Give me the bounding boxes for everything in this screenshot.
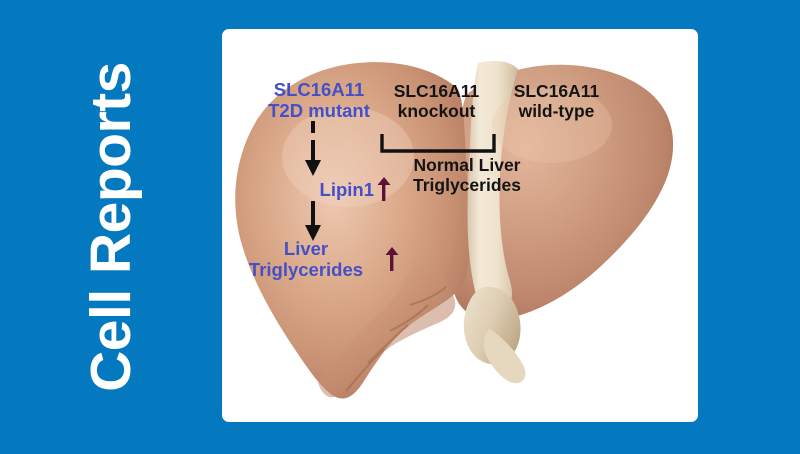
label-lipin1: Lipin1 [262,179,374,200]
increase-arrow-triglycerides-icon [385,247,399,271]
label-normal-triglycerides: Normal Liver Triglycerides [382,156,552,196]
label-liver-triglycerides: Liver Triglycerides [230,238,382,280]
arrow-mutant-to-lipin1-icon [302,121,324,177]
label-slc16a11-wild-type: SLC16A11 wild-type [494,82,619,122]
journal-title-text: Cell Reports [78,62,144,392]
arrow-lipin1-to-triglycerides-icon [302,201,324,241]
figure-card: SLC16A11 T2D mutant SLC16A11 knockout SL… [222,29,698,422]
label-slc16a11-t2d-mutant: SLC16A11 T2D mutant [244,79,394,121]
grouping-bracket-icon [379,133,497,155]
label-slc16a11-knockout: SLC16A11 knockout [374,82,499,122]
journal-title-banner: Cell Reports [0,0,222,454]
graphical-abstract-cover: Cell Reports [0,0,800,454]
